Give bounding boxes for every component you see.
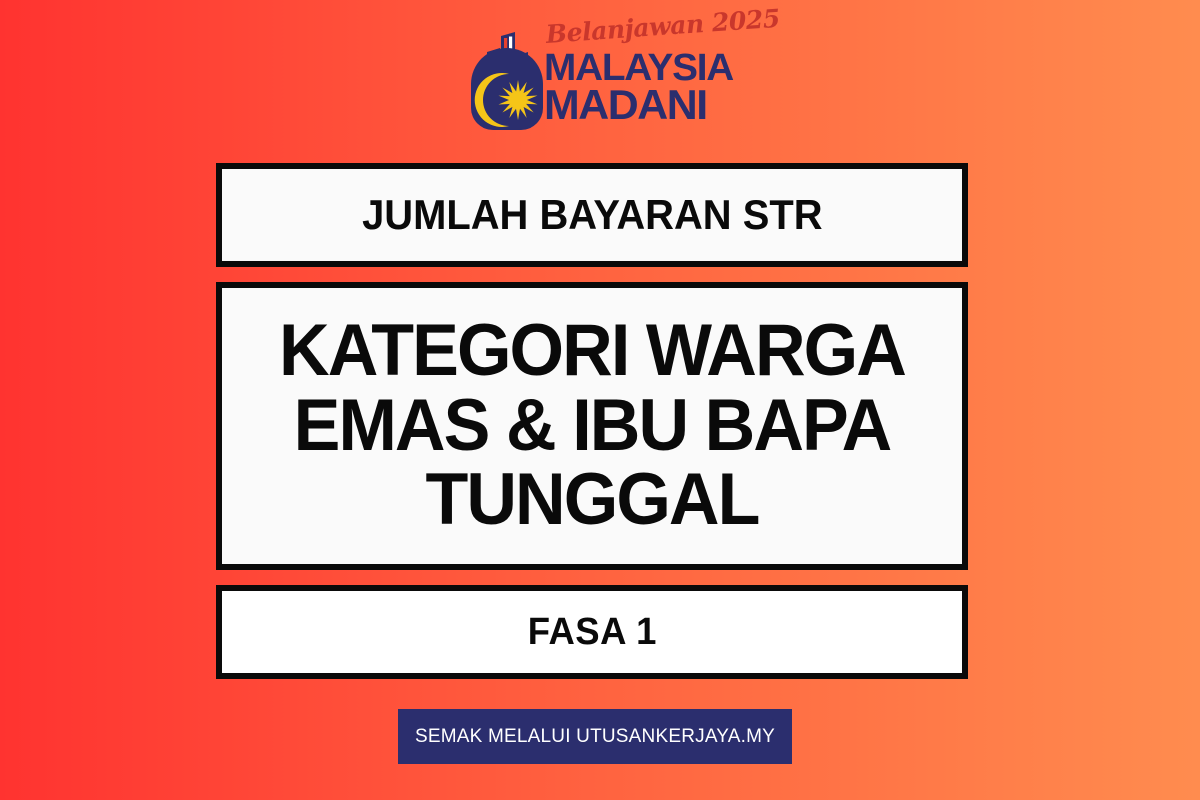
phase-label: FASA 1 [518, 613, 666, 651]
poster-canvas: Belanjawan 2025 MALAYSIA MADANI JUMLAH B… [0, 0, 1200, 800]
phase-box: FASA 1 [216, 585, 968, 679]
headline-text: KATEGORI WARGA EMAS & IBU BAPA TUNGGAL [237, 314, 947, 537]
page-title: JUMLAH BAYARAN STR [352, 194, 831, 236]
source-banner-text: SEMAK MELALUI UTUSANKERJAYA.MY [415, 726, 775, 748]
malaysia-madani-emblem-icon [466, 26, 548, 132]
wordmark-madani: MADANI [544, 86, 744, 124]
headline-box: KATEGORI WARGA EMAS & IBU BAPA TUNGGAL [216, 282, 968, 570]
title-box: JUMLAH BAYARAN STR [216, 163, 968, 267]
source-banner[interactable]: SEMAK MELALUI UTUSANKERJAYA.MY [398, 709, 792, 764]
logo-inner: Belanjawan 2025 MALAYSIA MADANI [466, 20, 734, 138]
logo-wordmark: Belanjawan 2025 MALAYSIA MADANI [544, 20, 736, 138]
belanjawan-script-label: Belanjawan 2025 [545, 5, 739, 52]
malaysia-madani-logo: Belanjawan 2025 MALAYSIA MADANI [0, 18, 1200, 140]
